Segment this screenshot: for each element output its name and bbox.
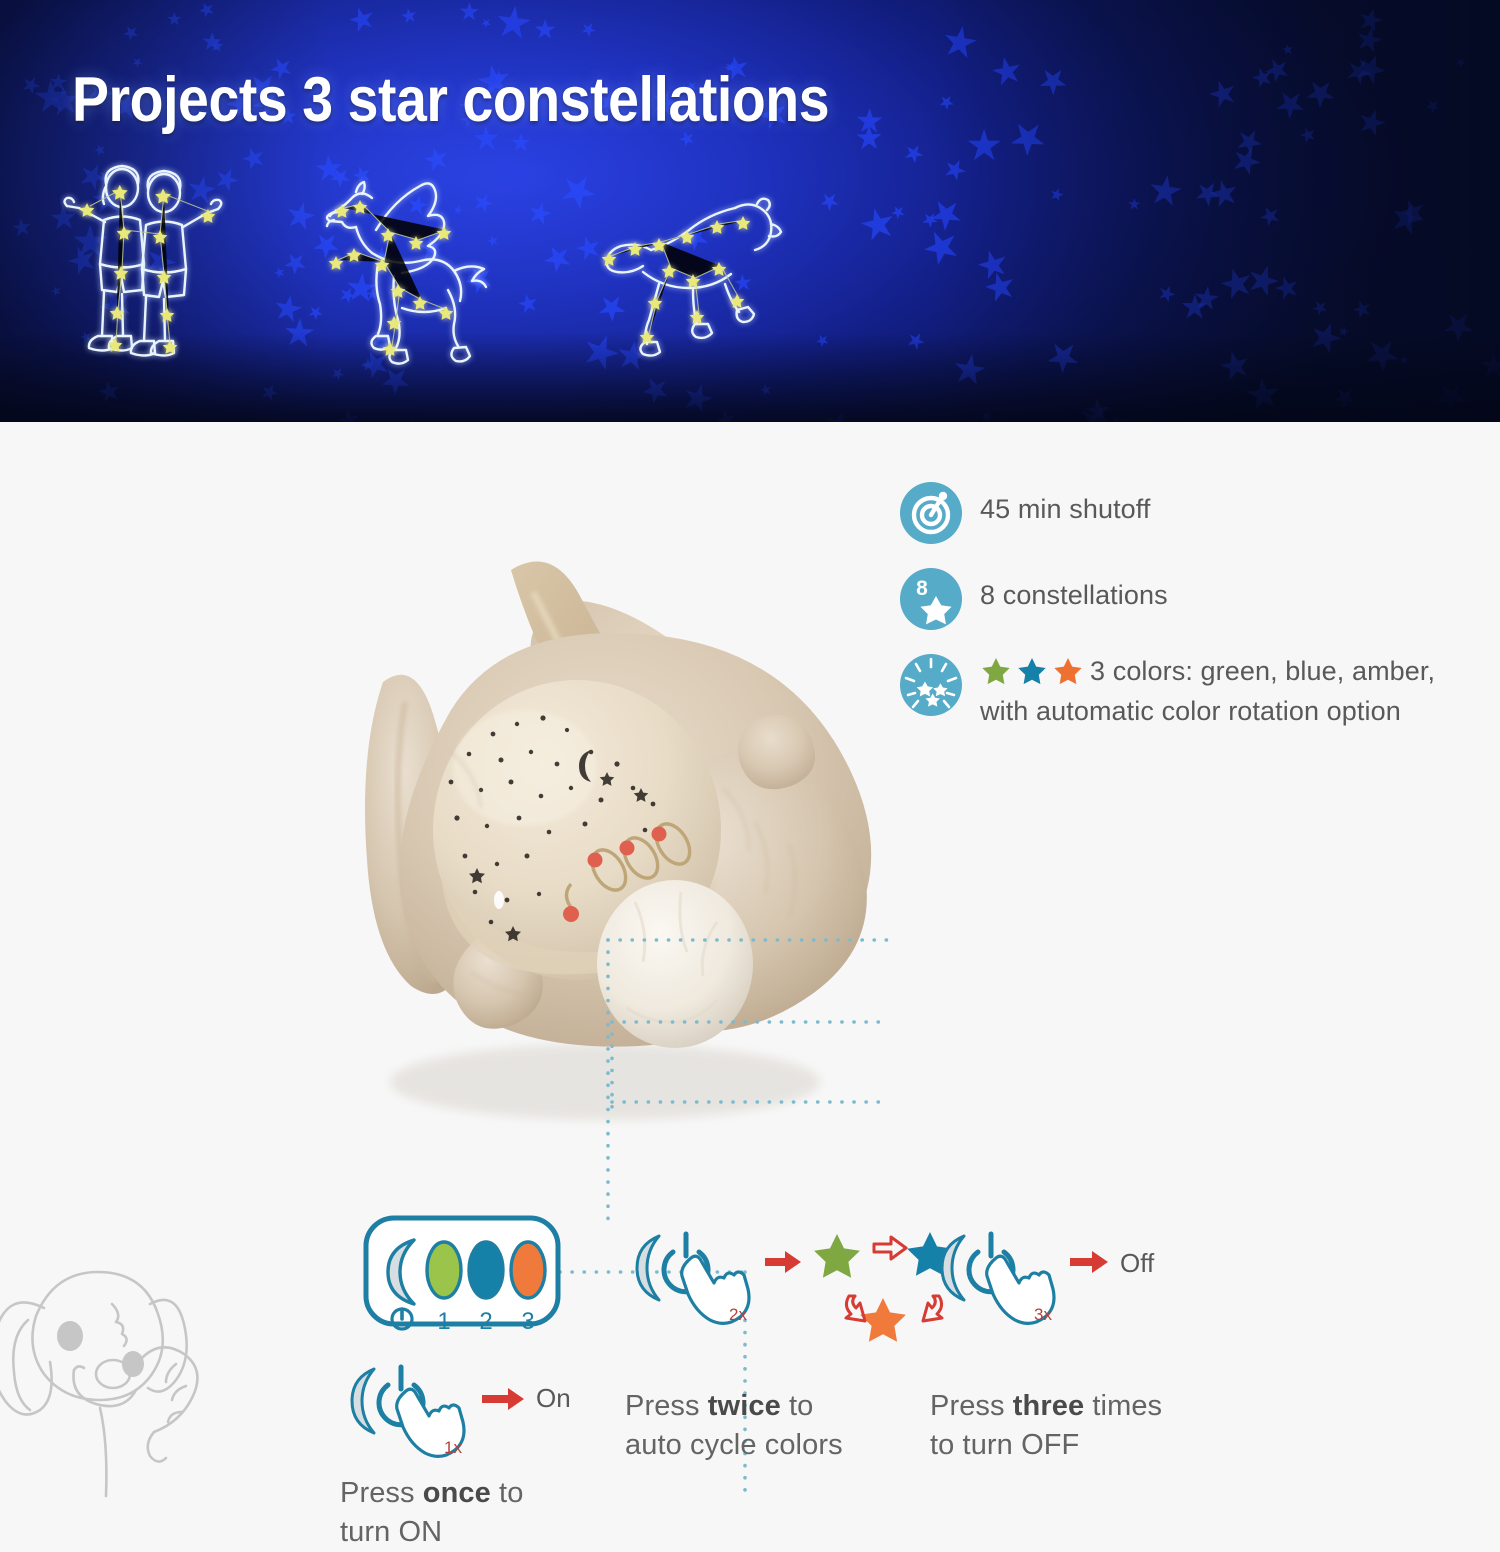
sparkle-stars-icon	[900, 654, 962, 716]
star	[195, 0, 217, 21]
star	[531, 16, 559, 44]
press-count-label: 1x	[444, 1438, 462, 1457]
caption-line2: to turn OFF	[930, 1426, 1270, 1465]
arrow-right-icon	[765, 1251, 801, 1273]
caption-post: to	[781, 1390, 814, 1422]
star	[939, 155, 970, 186]
star	[1006, 117, 1049, 160]
star	[982, 269, 1019, 306]
star	[1243, 375, 1284, 416]
product-image-plush-bunny	[255, 452, 955, 1152]
star	[455, 0, 483, 26]
svg-text:3: 3	[521, 1308, 534, 1335]
star	[1360, 333, 1405, 378]
star	[1128, 197, 1141, 210]
page-title: Projects 3 star constellations	[72, 64, 829, 136]
star	[922, 211, 939, 228]
star	[903, 329, 928, 354]
instruction-column-once: 1 2 3	[340, 1212, 660, 1552]
star	[1105, 411, 1132, 422]
arrow-right-icon	[1070, 1251, 1108, 1273]
arrow-right-icon	[482, 1388, 524, 1410]
star	[1041, 335, 1085, 379]
feature-label-colors: 3 colors: green, blue, amber, with autom…	[980, 654, 1435, 729]
feature-3-colors: 3 colors: green, blue, amber, with autom…	[900, 654, 1460, 729]
hero-night-sky-banner: Projects 3 star constellations	[0, 0, 1500, 422]
star	[1215, 262, 1259, 306]
constellation-illustrations	[50, 160, 810, 375]
caption-post: times	[1084, 1390, 1162, 1422]
star	[820, 408, 856, 422]
star	[679, 380, 717, 418]
star	[980, 410, 994, 422]
constellation-pegasus	[298, 168, 538, 378]
star	[490, 0, 538, 48]
star	[1034, 62, 1074, 102]
star	[1280, 42, 1295, 57]
eight-star-icon: 8	[900, 568, 962, 630]
star	[817, 190, 841, 214]
star	[481, 17, 492, 28]
star	[1205, 77, 1240, 112]
caption-bold: three	[1013, 1390, 1084, 1422]
star	[334, 406, 363, 422]
star	[1255, 202, 1284, 231]
star	[1423, 96, 1443, 116]
star	[1270, 84, 1311, 125]
star	[1337, 325, 1350, 338]
star	[580, 21, 598, 39]
star	[1247, 63, 1277, 93]
caption-pre: Press	[930, 1390, 1013, 1422]
press-count-label: 3x	[1034, 1305, 1052, 1324]
star	[1155, 282, 1178, 305]
star	[917, 224, 965, 272]
star	[852, 122, 886, 156]
star	[1354, 106, 1388, 140]
star	[640, 374, 671, 405]
star	[1302, 75, 1340, 113]
feature-8-constellations: 8 8 constellations	[900, 568, 1460, 630]
star	[1349, 296, 1375, 322]
star	[1385, 198, 1429, 242]
moon-icon	[637, 1236, 659, 1300]
star	[938, 20, 983, 65]
color-oval-1	[427, 1242, 461, 1298]
instruction-caption-once: Press once to turn ON	[340, 1474, 660, 1552]
feature-label: 45 min shutoff	[980, 482, 1151, 527]
cycle-star-orange	[860, 1298, 906, 1342]
star	[1439, 307, 1478, 346]
feature-list: 45 min shutoff 8 8 constellations	[900, 482, 1460, 753]
star	[991, 56, 1024, 89]
caption-bold: once	[423, 1477, 491, 1509]
star	[1311, 299, 1329, 317]
star	[1048, 186, 1066, 204]
result-label: On	[536, 1383, 571, 1413]
star	[121, 24, 140, 43]
star	[1397, 353, 1411, 367]
star	[1272, 273, 1302, 303]
star	[715, 410, 737, 422]
color-oval-2	[469, 1242, 503, 1298]
caption-pre: Press	[340, 1477, 423, 1509]
instruction-panel: 1 2 3	[340, 1212, 1400, 1502]
star	[92, 142, 107, 157]
star	[889, 202, 908, 221]
caption-post: to	[491, 1477, 524, 1509]
timer-shutoff-icon	[900, 482, 962, 544]
star	[1241, 258, 1285, 302]
caption-line2: turn ON	[340, 1513, 660, 1552]
star	[399, 5, 421, 27]
star	[939, 95, 955, 111]
color-oval-3	[511, 1242, 545, 1298]
star	[349, 7, 375, 33]
star	[260, 383, 279, 402]
star	[758, 382, 774, 398]
svg-text:2: 2	[479, 1308, 492, 1335]
star	[1226, 142, 1266, 182]
star	[1219, 350, 1251, 382]
cycle-arrow-1	[874, 1237, 906, 1259]
star	[947, 348, 991, 392]
constellation-gemini	[60, 160, 270, 375]
star	[11, 216, 34, 239]
star	[814, 331, 833, 350]
feature-45-min-shutoff: 45 min shutoff	[900, 482, 1460, 544]
feature-label: 8 constellations	[980, 568, 1168, 613]
press-once-graphic: 1x On	[340, 1359, 660, 1468]
cycle-arrow-3	[846, 1296, 865, 1321]
bunny-line-art-mascot	[0, 1250, 250, 1500]
star	[901, 141, 927, 167]
star	[960, 122, 1008, 170]
color-swatch-stars	[980, 655, 1086, 694]
star	[1310, 321, 1343, 354]
result-label: Off	[1120, 1248, 1155, 1278]
star	[1452, 55, 1468, 71]
constellation-ursa-major	[575, 190, 795, 370]
moon-icon	[942, 1236, 964, 1300]
star	[1356, 27, 1384, 55]
press-three-times-graphic: 3x Off	[930, 1226, 1270, 1371]
instruction-column-three-times: 3x Off Press three times to turn OFF	[930, 1226, 1270, 1465]
star	[95, 378, 125, 408]
star	[1331, 384, 1359, 412]
star	[164, 9, 184, 29]
star	[200, 29, 225, 54]
svg-text:1: 1	[437, 1308, 450, 1335]
moon-icon	[352, 1369, 374, 1433]
star	[856, 203, 901, 248]
star	[1147, 173, 1184, 210]
star	[1431, 378, 1470, 417]
press-count-label: 2x	[729, 1305, 747, 1324]
caption-bold: twice	[708, 1390, 781, 1422]
cycle-star-green	[814, 1234, 860, 1278]
instruction-caption-three-times: Press three times to turn OFF	[930, 1387, 1270, 1465]
star	[974, 246, 1011, 283]
feature-colors-line1: 3 colors: green, blue, amber,	[1090, 656, 1435, 686]
feature-colors-line2: with automatic color rotation option	[980, 694, 1435, 729]
star	[1297, 124, 1319, 146]
star	[1474, 348, 1500, 385]
svg-text:8: 8	[916, 577, 928, 600]
caption-pre: Press	[625, 1390, 708, 1422]
